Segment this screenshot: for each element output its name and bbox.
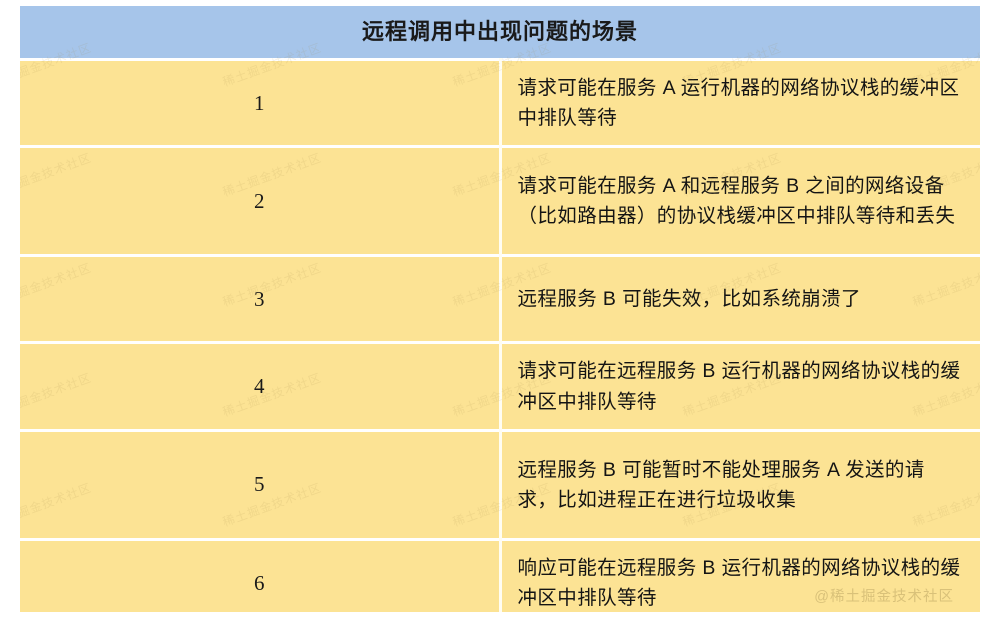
row-text: 请求可能在服务 A 运行机器的网络协议栈的缓冲区中排队等待 bbox=[500, 60, 980, 147]
row-number: 3 bbox=[20, 256, 500, 343]
table-row: 1 请求可能在服务 A 运行机器的网络协议栈的缓冲区中排队等待 bbox=[20, 60, 980, 147]
row-text: 远程服务 B 可能暂时不能处理服务 A 发送的请求，比如进程正在进行垃圾收集 bbox=[500, 430, 980, 539]
table-row: 2 请求可能在服务 A 和远程服务 B 之间的网络设备（比如路由器）的协议栈缓冲… bbox=[20, 147, 980, 256]
row-number: 5 bbox=[20, 430, 500, 539]
row-number: 6 bbox=[20, 539, 500, 612]
table-header-cell: 远程调用中出现问题的场景 bbox=[20, 6, 980, 60]
table-header-row: 远程调用中出现问题的场景 bbox=[20, 6, 980, 60]
row-text: 请求可能在远程服务 B 运行机器的网络协议栈的缓冲区中排队等待 bbox=[500, 343, 980, 430]
row-number: 1 bbox=[20, 60, 500, 147]
table-row: 5 远程服务 B 可能暂时不能处理服务 A 发送的请求，比如进程正在进行垃圾收集 bbox=[20, 430, 980, 539]
table-body: 远程调用中出现问题的场景 1 请求可能在服务 A 运行机器的网络协议栈的缓冲区中… bbox=[20, 6, 980, 612]
table-row: 6 响应可能在远程服务 B 运行机器的网络协议栈的缓冲区中排队等待 bbox=[20, 539, 980, 612]
page-title: 远程调用中出现问题的场景 bbox=[362, 19, 638, 44]
row-text: 远程服务 B 可能失效，比如系统崩溃了 bbox=[500, 256, 980, 343]
scenario-table: 远程调用中出现问题的场景 1 请求可能在服务 A 运行机器的网络协议栈的缓冲区中… bbox=[20, 6, 980, 612]
row-text: 请求可能在服务 A 和远程服务 B 之间的网络设备（比如路由器）的协议栈缓冲区中… bbox=[500, 147, 980, 256]
row-number: 2 bbox=[20, 147, 500, 256]
row-number: 4 bbox=[20, 343, 500, 430]
row-text: 响应可能在远程服务 B 运行机器的网络协议栈的缓冲区中排队等待 bbox=[500, 539, 980, 612]
scenario-table-container: 远程调用中出现问题的场景 1 请求可能在服务 A 运行机器的网络协议栈的缓冲区中… bbox=[20, 6, 980, 612]
table-row: 4 请求可能在远程服务 B 运行机器的网络协议栈的缓冲区中排队等待 bbox=[20, 343, 980, 430]
table-row: 3 远程服务 B 可能失效，比如系统崩溃了 bbox=[20, 256, 980, 343]
